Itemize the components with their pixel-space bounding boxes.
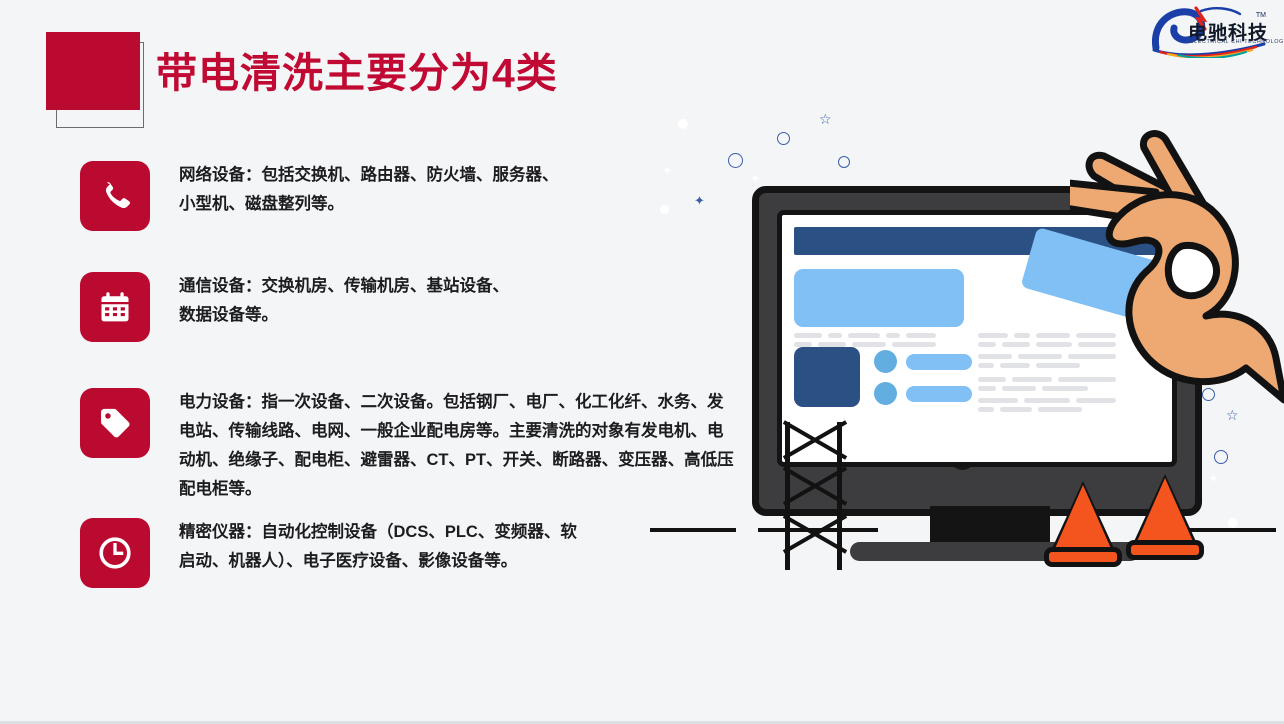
decor-plus-icon: ✦ bbox=[1208, 472, 1219, 485]
cone-body bbox=[1053, 485, 1113, 553]
decor-dot-icon bbox=[678, 119, 688, 129]
traffic-cone bbox=[1126, 478, 1204, 560]
list-item-line: 精密仪器：自动化控制设备（DCS、PLC、变频器、软 bbox=[179, 518, 577, 547]
screen-skeleton-line bbox=[978, 407, 994, 412]
screen-skeleton-line bbox=[1012, 377, 1052, 382]
screen-skeleton-line bbox=[1000, 363, 1030, 368]
screen-skeleton-line bbox=[978, 398, 1018, 403]
list-item: 通信设备：交换机房、传输机房、基站设备、 数据设备等。 bbox=[80, 272, 509, 342]
logo-name-en: ELECTRICAL CHI TECHNOLOGY bbox=[1190, 39, 1284, 45]
screen-skeleton-line bbox=[794, 333, 822, 338]
list-item: 电力设备：指一次设备、二次设备。包括钢厂、电厂、化工化纤、水务、发 电站、传输线… bbox=[80, 388, 734, 504]
screen-avatar-dot bbox=[874, 382, 897, 405]
list-item-line: 小型机、磁盘整列等。 bbox=[179, 190, 559, 219]
screen-skeleton-line bbox=[848, 333, 880, 338]
screen-skeleton-line bbox=[906, 333, 936, 338]
decor-plus-icon: ✦ bbox=[662, 164, 673, 177]
slide-canvas: 带电清洗主要分为4类 电驰科技 ELECTRICAL CHI TECHNOLOG… bbox=[0, 0, 1284, 724]
decor-star-icon: ☆ bbox=[819, 112, 832, 126]
screen-skeleton-line bbox=[978, 377, 1006, 382]
screen-hero-block bbox=[794, 269, 964, 327]
list-item: 网络设备：包括交换机、路由器、防火墙、服务器、 小型机、磁盘整列等。 bbox=[80, 161, 559, 231]
decor-circle-icon bbox=[838, 156, 850, 168]
list-item: 精密仪器：自动化控制设备（DCS、PLC、变频器、软 启动、机器人）、电子医疗设… bbox=[80, 518, 577, 588]
cone-base bbox=[1044, 547, 1122, 567]
calendar-icon bbox=[80, 272, 150, 342]
screen-skeleton-line bbox=[978, 354, 1012, 359]
traffic-cone bbox=[1044, 485, 1122, 567]
list-item-line: 启动、机器人）、电子医疗设备、影像设备等。 bbox=[179, 547, 577, 576]
ground-line bbox=[650, 528, 736, 532]
title-square-fill bbox=[46, 32, 140, 110]
decor-star-icon: ☆ bbox=[1226, 408, 1239, 422]
cone-body bbox=[1135, 478, 1195, 546]
cone-base bbox=[1126, 540, 1204, 560]
screen-avatar-dot bbox=[874, 350, 897, 373]
transmission-tower bbox=[785, 422, 845, 570]
decor-dot-icon bbox=[660, 205, 669, 214]
screen-skeleton-line bbox=[1024, 398, 1070, 403]
screen-skeleton-line bbox=[1036, 333, 1070, 338]
logo-trademark: TM bbox=[1256, 12, 1266, 19]
list-item-line: 通信设备：交换机房、传输机房、基站设备、 bbox=[179, 272, 509, 301]
monitor-hand-illustration: ✦ ✦ ✦ ☆ ☆ ☆ ✦ ✦ bbox=[640, 110, 1284, 590]
ground-line bbox=[758, 528, 878, 532]
list-item-text: 精密仪器：自动化控制设备（DCS、PLC、变频器、软 启动、机器人）、电子医疗设… bbox=[179, 518, 577, 576]
decor-circle-icon bbox=[728, 153, 743, 168]
pinching-hand bbox=[1070, 130, 1284, 410]
list-item-line: 网络设备：包括交换机、路由器、防火墙、服务器、 bbox=[179, 161, 559, 190]
screen-pill bbox=[906, 386, 972, 402]
screen-skeleton-line bbox=[818, 342, 846, 347]
company-logo: 电驰科技 ELECTRICAL CHI TECHNOLOGY TM bbox=[1144, 2, 1276, 58]
screen-skeleton-line bbox=[978, 333, 1008, 338]
decor-dot-icon bbox=[1228, 518, 1238, 528]
screen-skeleton-line bbox=[1002, 386, 1036, 391]
screen-skeleton-line bbox=[1002, 342, 1030, 347]
list-item-line: 数据设备等。 bbox=[179, 301, 509, 330]
page-title: 带电清洗主要分为4类 bbox=[156, 42, 558, 104]
phone-icon bbox=[80, 161, 150, 231]
screen-card-block bbox=[794, 347, 860, 407]
decor-circle-icon bbox=[1214, 450, 1228, 464]
screen-skeleton-line bbox=[1000, 407, 1032, 412]
tag-icon bbox=[80, 388, 150, 458]
screen-skeleton-line bbox=[978, 386, 996, 391]
screen-skeleton-line bbox=[828, 333, 842, 338]
list-item-text: 通信设备：交换机房、传输机房、基站设备、 数据设备等。 bbox=[179, 272, 509, 330]
screen-skeleton-line bbox=[1018, 354, 1062, 359]
screen-skeleton-line bbox=[852, 342, 886, 347]
screen-skeleton-line bbox=[794, 342, 812, 347]
screen-skeleton-line bbox=[886, 333, 900, 338]
screen-skeleton-line bbox=[1014, 333, 1030, 338]
clock-icon bbox=[80, 518, 150, 588]
screen-pill bbox=[906, 354, 972, 370]
screen-skeleton-line bbox=[978, 363, 994, 368]
decor-circle-icon bbox=[777, 132, 790, 145]
decor-plus-icon: ✦ bbox=[694, 194, 705, 207]
screen-skeleton-line bbox=[978, 342, 996, 347]
list-item-text: 网络设备：包括交换机、路由器、防火墙、服务器、 小型机、磁盘整列等。 bbox=[179, 161, 559, 219]
screen-skeleton-line bbox=[1036, 342, 1072, 347]
screen-skeleton-line bbox=[892, 342, 936, 347]
decor-plus-icon: ✦ bbox=[750, 172, 761, 185]
